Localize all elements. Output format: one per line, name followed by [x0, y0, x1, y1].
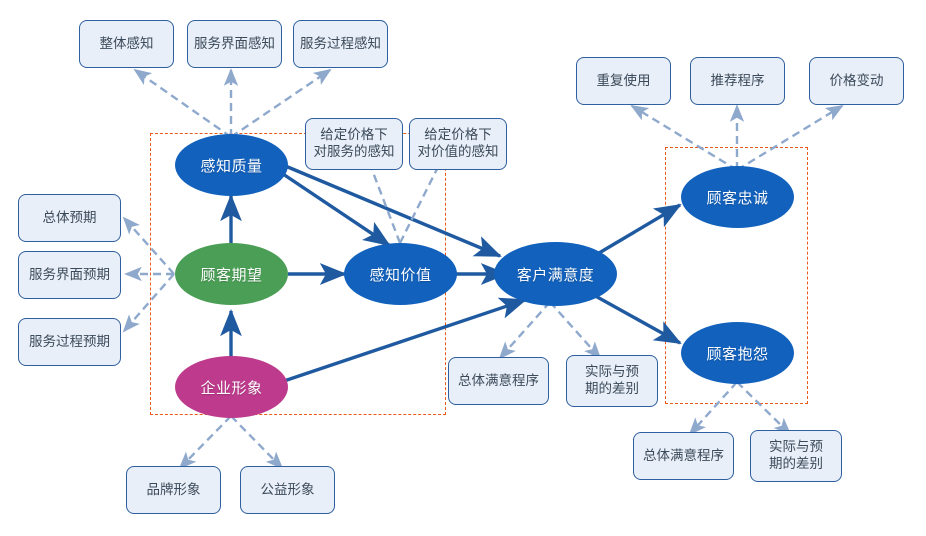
node-label: 顾客忠诚 — [706, 187, 768, 208]
node-customer-complaint[interactable]: 顾客抱怨 — [681, 322, 794, 384]
indicator-referral-program[interactable]: 推荐程序 — [690, 57, 785, 105]
indicator-label: 推荐程序 — [711, 73, 765, 90]
node-label: 感知质量 — [200, 155, 262, 176]
node-label: 企业形象 — [200, 377, 262, 398]
diagram-canvas: 感知质量 顾客期望 企业形象 感知价值 客户满意度 顾客忠诚 顾客抱怨 整体感知… — [0, 0, 926, 536]
indicator-label: 服务过程感知 — [300, 36, 381, 53]
indicator-price-value-perception[interactable]: 给定价格下 对价值的感知 — [409, 118, 507, 170]
indicator-label-line2: 对价值的感知 — [418, 144, 499, 161]
indicator-overall-satisfaction-1[interactable]: 总体满意程序 — [448, 357, 549, 405]
node-label: 客户满意度 — [517, 264, 595, 285]
node-label: 顾客期望 — [200, 264, 262, 285]
indicator-label-line2: 对服务的感知 — [314, 144, 395, 161]
indicator-public-image[interactable]: 公益形象 — [240, 466, 335, 514]
indicator-label-line2: 期的差别 — [585, 381, 639, 398]
indicator-label: 品牌形象 — [147, 482, 201, 499]
indicator-label: 服务界面预期 — [29, 267, 110, 284]
indicator-label: 重复使用 — [597, 73, 651, 90]
indicator-label: 总体满意程序 — [643, 448, 724, 465]
indicator-label: 公益形象 — [261, 482, 315, 499]
node-perceived-quality[interactable]: 感知质量 — [175, 134, 288, 196]
indicator-label: 整体感知 — [100, 36, 154, 53]
indicator-service-process-expectation[interactable]: 服务过程预期 — [18, 318, 121, 366]
indicator-price-change[interactable]: 价格变动 — [809, 57, 904, 105]
indicator-brand-image[interactable]: 品牌形象 — [126, 466, 221, 514]
node-customer-loyalty[interactable]: 顾客忠诚 — [681, 166, 794, 228]
node-customer-expectation[interactable]: 顾客期望 — [175, 243, 288, 305]
indicator-label: 服务界面感知 — [194, 36, 275, 53]
indicator-label: 价格变动 — [830, 73, 884, 90]
indicator-service-process-perception[interactable]: 服务过程感知 — [293, 20, 388, 68]
indicator-label: 总体满意程序 — [458, 373, 539, 390]
node-customer-satisfaction[interactable]: 客户满意度 — [494, 242, 617, 306]
indicator-price-service-perception[interactable]: 给定价格下 对服务的感知 — [305, 118, 403, 170]
indicator-expectation-gap-2[interactable]: 实际与预 期的差别 — [750, 430, 842, 482]
node-perceived-value[interactable]: 感知价值 — [344, 243, 457, 305]
indicator-overall-perception[interactable]: 整体感知 — [79, 20, 174, 68]
indicator-label-line2: 期的差别 — [769, 456, 823, 473]
indicator-label-line1: 实际与预 — [769, 439, 823, 456]
indicator-label-line1: 给定价格下 — [424, 127, 492, 144]
indicator-overall-satisfaction-2[interactable]: 总体满意程序 — [633, 432, 734, 480]
node-label: 感知价值 — [369, 264, 431, 285]
indicator-repeat-use[interactable]: 重复使用 — [576, 57, 671, 105]
indicator-overall-expectation[interactable]: 总体预期 — [18, 194, 121, 242]
indicator-label: 总体预期 — [43, 210, 97, 227]
indicator-service-interface-expectation[interactable]: 服务界面预期 — [18, 251, 121, 299]
node-corporate-image[interactable]: 企业形象 — [175, 356, 288, 418]
node-label: 顾客抱怨 — [706, 343, 768, 364]
indicator-label-line1: 实际与预 — [585, 364, 639, 381]
indicator-label-line1: 给定价格下 — [320, 127, 388, 144]
indicator-expectation-gap-1[interactable]: 实际与预 期的差别 — [566, 355, 658, 407]
indicator-service-interface-perception[interactable]: 服务界面感知 — [187, 20, 282, 68]
indicator-label: 服务过程预期 — [29, 334, 110, 351]
